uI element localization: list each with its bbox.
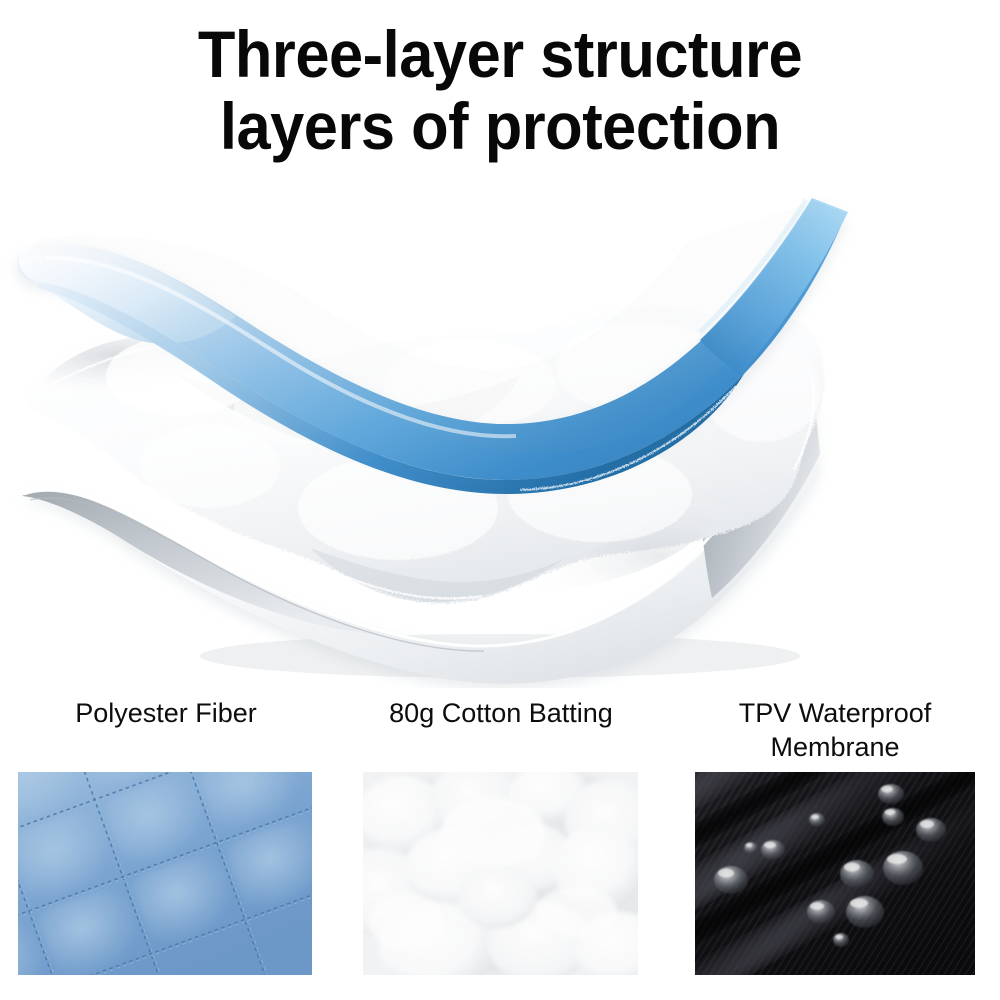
cotton-swatch-svg (363, 772, 638, 975)
swatch-label-row: Polyester Fiber 80g Cotton Batting TPV W… (0, 696, 1000, 772)
layers-svg (0, 178, 1000, 688)
label-cotton-batting: 80g Cotton Batting (363, 696, 639, 730)
label-polyester-fiber-text: Polyester Fiber (75, 698, 257, 728)
swatch-row (0, 772, 1000, 975)
page-title: Three-layer structure layers of protecti… (0, 18, 1000, 162)
layer-structure-illustration (0, 178, 1000, 688)
label-tpv-membrane-line-1: TPV Waterproof (739, 698, 932, 728)
label-tpv-membrane: TPV Waterproof Membrane (690, 696, 980, 764)
tpv-swatch-svg (695, 772, 975, 975)
title-line-2: layers of protection (35, 90, 965, 162)
polyester-fiber-swatch (18, 772, 312, 975)
title-line-1: Three-layer structure (35, 18, 965, 90)
label-tpv-membrane-line-2: Membrane (770, 732, 899, 762)
polyester-swatch-svg (18, 772, 312, 975)
infographic-page: Three-layer structure layers of protecti… (0, 0, 1000, 1000)
label-cotton-batting-text: 80g Cotton Batting (389, 698, 613, 728)
label-polyester-fiber: Polyester Fiber (20, 696, 312, 730)
tpv-membrane-swatch (695, 772, 975, 975)
cotton-batting-swatch (363, 772, 638, 975)
